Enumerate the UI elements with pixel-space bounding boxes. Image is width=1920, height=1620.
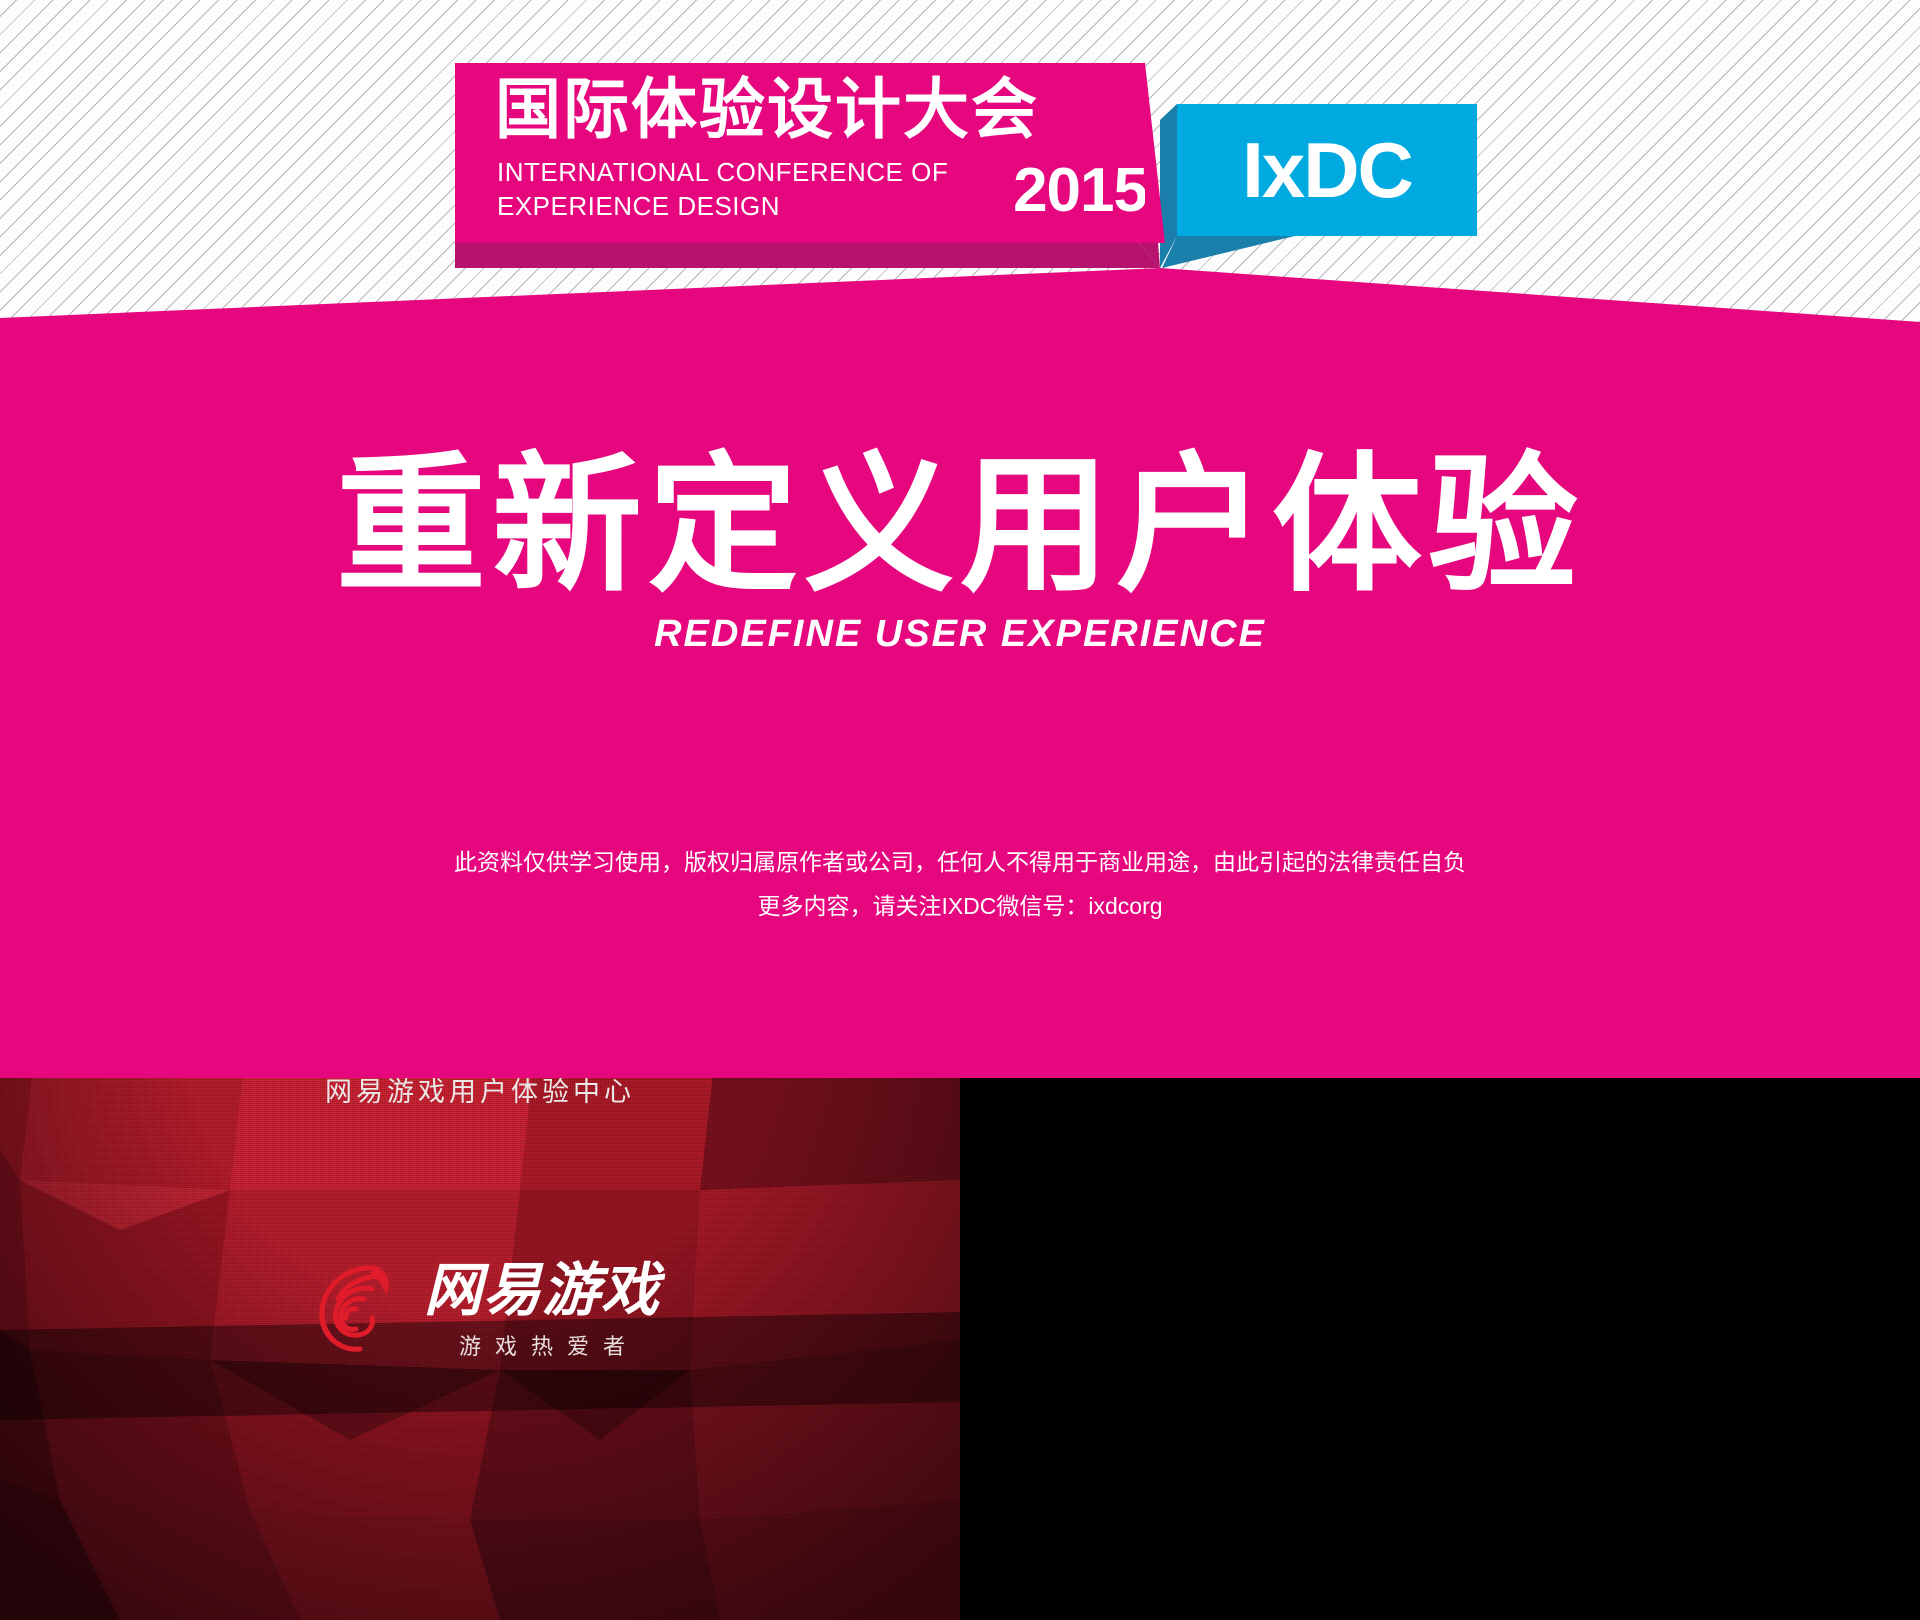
banner-subtitle-group: INTERNATIONAL CONFERENCE OF EXPERIENCE D… (497, 155, 1137, 235)
banner-subtitle-lines: INTERNATIONAL CONFERENCE OF EXPERIENCE D… (497, 155, 948, 223)
netease-brand-tagline: 游戏热爱者 (445, 1329, 639, 1361)
banner-year: 2015 (1013, 157, 1147, 225)
slide-viewport: GAME 敏捷设计 网易游戏用户体验中心 (0, 1078, 1920, 1620)
ixdc-logo-text: IxDC (1177, 104, 1477, 236)
disclaimer-block: 此资料仅供学习使用，版权归属原作者或公司，任何人不得用于商业用途，由此引起的法律… (0, 840, 1920, 928)
netease-wordmark: 网易游戏 游戏热爱者 (424, 1259, 660, 1361)
netease-logo-lockup: 网易游戏 游戏热爱者 (0, 1240, 960, 1380)
hero-section: 国际体验设计大会 INTERNATIONAL CONFERENCE OF EXP… (0, 0, 1920, 1078)
netease-brand-name: 网易游戏 (424, 1259, 660, 1323)
ixdc-logo: IxDC (1177, 104, 1477, 236)
slide-subtitle: 网易游戏用户体验中心 (0, 1078, 960, 1109)
disclaimer-line-2: 更多内容，请关注IXDC微信号：ixdcorg (0, 884, 1920, 928)
hero-headline-group: 重新定义用户体验 REDEFINE USER EXPERIENCE (0, 445, 1920, 656)
slide-content: GAME 敏捷设计 网易游戏用户体验中心 (0, 1078, 960, 1620)
banner-title-cn: 国际体验设计大会 (495, 69, 1039, 149)
conference-banner: 国际体验设计大会 INTERNATIONAL CONFERENCE OF EXP… (455, 63, 1145, 243)
hero-headline-cn: 重新定义用户体验 (0, 445, 1920, 605)
banner-subtitle-line2: EXPERIENCE DESIGN (497, 189, 948, 223)
hero-headline-en: REDEFINE USER EXPERIENCE (0, 613, 1920, 656)
banner-subtitle-line1: INTERNATIONAL CONFERENCE OF (497, 155, 948, 189)
disclaimer-line-1: 此资料仅供学习使用，版权归属原作者或公司，任何人不得用于商业用途，由此引起的法律… (0, 840, 1920, 884)
presentation-slide: GAME 敏捷设计 网易游戏用户体验中心 (0, 1078, 960, 1620)
netease-phoenix-icon (300, 1255, 410, 1365)
